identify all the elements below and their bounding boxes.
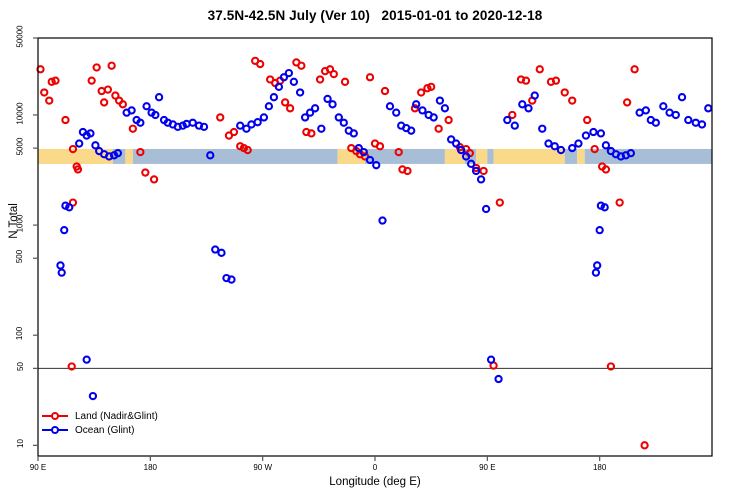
data-point	[341, 120, 347, 126]
data-point	[643, 107, 649, 113]
data-point	[46, 98, 52, 104]
data-point	[446, 117, 452, 123]
surface-band-ocean	[585, 149, 712, 164]
data-point	[130, 126, 136, 132]
data-point	[504, 117, 510, 123]
data-point	[61, 227, 67, 233]
data-point	[519, 101, 525, 107]
data-point	[660, 103, 666, 109]
data-point	[632, 66, 638, 72]
data-point	[569, 98, 575, 104]
x-axis-tick-label: 0	[373, 463, 377, 472]
data-point	[377, 143, 383, 149]
data-point	[298, 63, 304, 69]
data-point	[228, 276, 234, 282]
data-point	[382, 88, 388, 94]
chart-legend: Land (Nadir&Glint)Ocean (Glint)	[42, 409, 158, 437]
y-axis-tick-label: 100	[8, 329, 32, 338]
data-point	[575, 140, 581, 146]
data-point	[76, 140, 82, 146]
data-point	[351, 130, 357, 136]
series-ocean	[57, 70, 711, 399]
data-point	[137, 120, 143, 126]
data-point	[608, 363, 614, 369]
data-point	[453, 140, 459, 146]
data-point	[537, 66, 543, 72]
data-point	[324, 96, 330, 102]
data-point	[105, 86, 111, 92]
data-point	[266, 103, 272, 109]
data-point	[419, 107, 425, 113]
data-point	[84, 357, 90, 363]
data-point	[488, 357, 494, 363]
surface-band-ocean	[133, 149, 338, 164]
data-point	[109, 63, 115, 69]
data-point	[201, 124, 207, 130]
surface-band-land	[476, 149, 487, 164]
data-point	[512, 123, 518, 129]
data-point	[679, 94, 685, 100]
data-point	[318, 126, 324, 132]
data-point	[373, 162, 379, 168]
data-point	[286, 70, 292, 76]
data-point	[271, 94, 277, 100]
data-point	[532, 92, 538, 98]
data-point	[442, 105, 448, 111]
data-point	[699, 121, 705, 127]
data-point	[431, 114, 437, 120]
data-point	[312, 105, 318, 111]
data-point	[101, 99, 107, 105]
x-axis-tick-label: 90 E	[30, 463, 46, 472]
data-point	[705, 105, 711, 111]
data-point	[497, 200, 503, 206]
data-point	[387, 103, 393, 109]
data-point	[308, 130, 314, 136]
data-point	[624, 99, 630, 105]
data-point	[539, 126, 545, 132]
data-point	[483, 206, 489, 212]
data-point	[282, 99, 288, 105]
data-point	[231, 129, 237, 135]
data-point	[261, 114, 267, 120]
data-point	[342, 79, 348, 85]
chart-figure: 37.5N-42.5N July (Ver 10) 2015-01-01 to …	[0, 0, 750, 500]
data-point	[143, 103, 149, 109]
y-axis-tick-label: 10000	[8, 109, 32, 118]
legend-label: Land (Nadir&Glint)	[75, 411, 158, 422]
data-point	[569, 145, 575, 151]
data-point	[617, 200, 623, 206]
data-point	[653, 120, 659, 126]
data-point	[218, 250, 224, 256]
data-point	[291, 79, 297, 85]
x-axis-tick-label: 180	[144, 463, 157, 472]
data-point	[276, 84, 282, 90]
data-point	[562, 89, 568, 95]
data-point	[480, 168, 486, 174]
data-point	[404, 168, 410, 174]
data-point	[393, 110, 399, 116]
data-point	[297, 89, 303, 95]
data-point	[331, 71, 337, 77]
data-point	[336, 114, 342, 120]
data-point	[57, 262, 63, 268]
data-point	[594, 262, 600, 268]
data-point	[59, 270, 65, 276]
data-point	[685, 117, 691, 123]
data-point	[436, 126, 442, 132]
axis-frame	[38, 38, 712, 456]
surface-band-land	[577, 149, 584, 164]
data-point	[584, 117, 590, 123]
data-point	[87, 130, 93, 136]
data-point	[90, 393, 96, 399]
data-point	[408, 128, 414, 134]
data-point	[437, 98, 443, 104]
data-point	[603, 166, 609, 172]
x-axis-tick-label: 90 W	[253, 463, 272, 472]
data-point	[603, 142, 609, 148]
data-point	[642, 442, 648, 448]
data-point	[237, 123, 243, 129]
data-point	[598, 130, 604, 136]
data-point	[212, 246, 218, 252]
data-point	[129, 107, 135, 113]
data-point	[413, 101, 419, 107]
legend-item-land[interactable]: Land (Nadir&Glint)	[42, 409, 158, 423]
data-point	[41, 89, 47, 95]
data-point	[62, 117, 68, 123]
data-point	[418, 89, 424, 95]
data-point	[255, 119, 261, 125]
data-point	[379, 217, 385, 223]
data-point	[552, 143, 558, 149]
surface-band-land	[125, 149, 132, 164]
data-point	[217, 114, 223, 120]
data-point	[478, 176, 484, 182]
data-point	[156, 94, 162, 100]
data-point	[257, 61, 263, 67]
y-axis-tick-label: 10	[8, 439, 32, 448]
data-point	[151, 176, 157, 182]
surface-band-land	[494, 149, 565, 164]
data-point	[597, 227, 603, 233]
data-point	[329, 101, 335, 107]
x-axis-tick-label: 180	[593, 463, 606, 472]
data-point	[495, 376, 501, 382]
y-axis-tick-label: 50000	[8, 32, 32, 41]
data-point	[120, 101, 126, 107]
legend-marker-icon	[42, 424, 68, 436]
surface-band-ocean	[487, 149, 493, 164]
y-axis-tick-label: 5000	[8, 142, 32, 151]
data-point	[287, 105, 293, 111]
y-axis-label: N Total	[8, 161, 20, 281]
data-point	[69, 363, 75, 369]
data-point	[583, 132, 589, 138]
data-point	[89, 78, 95, 84]
data-point	[152, 112, 158, 118]
legend-label: Ocean (Glint)	[75, 425, 134, 436]
data-point	[525, 105, 531, 111]
data-point	[142, 169, 148, 175]
legend-marker-icon	[42, 410, 68, 422]
data-point	[94, 64, 100, 70]
x-axis-label: Longitude (deg E)	[0, 476, 750, 488]
x-axis-tick-label: 90 E	[479, 463, 495, 472]
y-axis-tick-label: 50	[8, 362, 32, 371]
data-point	[590, 129, 596, 135]
data-point	[317, 76, 323, 82]
data-point	[553, 78, 559, 84]
surface-band-land	[445, 149, 465, 164]
data-point	[367, 74, 373, 80]
data-point	[673, 112, 679, 118]
data-point	[523, 78, 529, 84]
legend-item-ocean[interactable]: Ocean (Glint)	[42, 423, 158, 437]
data-point	[593, 270, 599, 276]
